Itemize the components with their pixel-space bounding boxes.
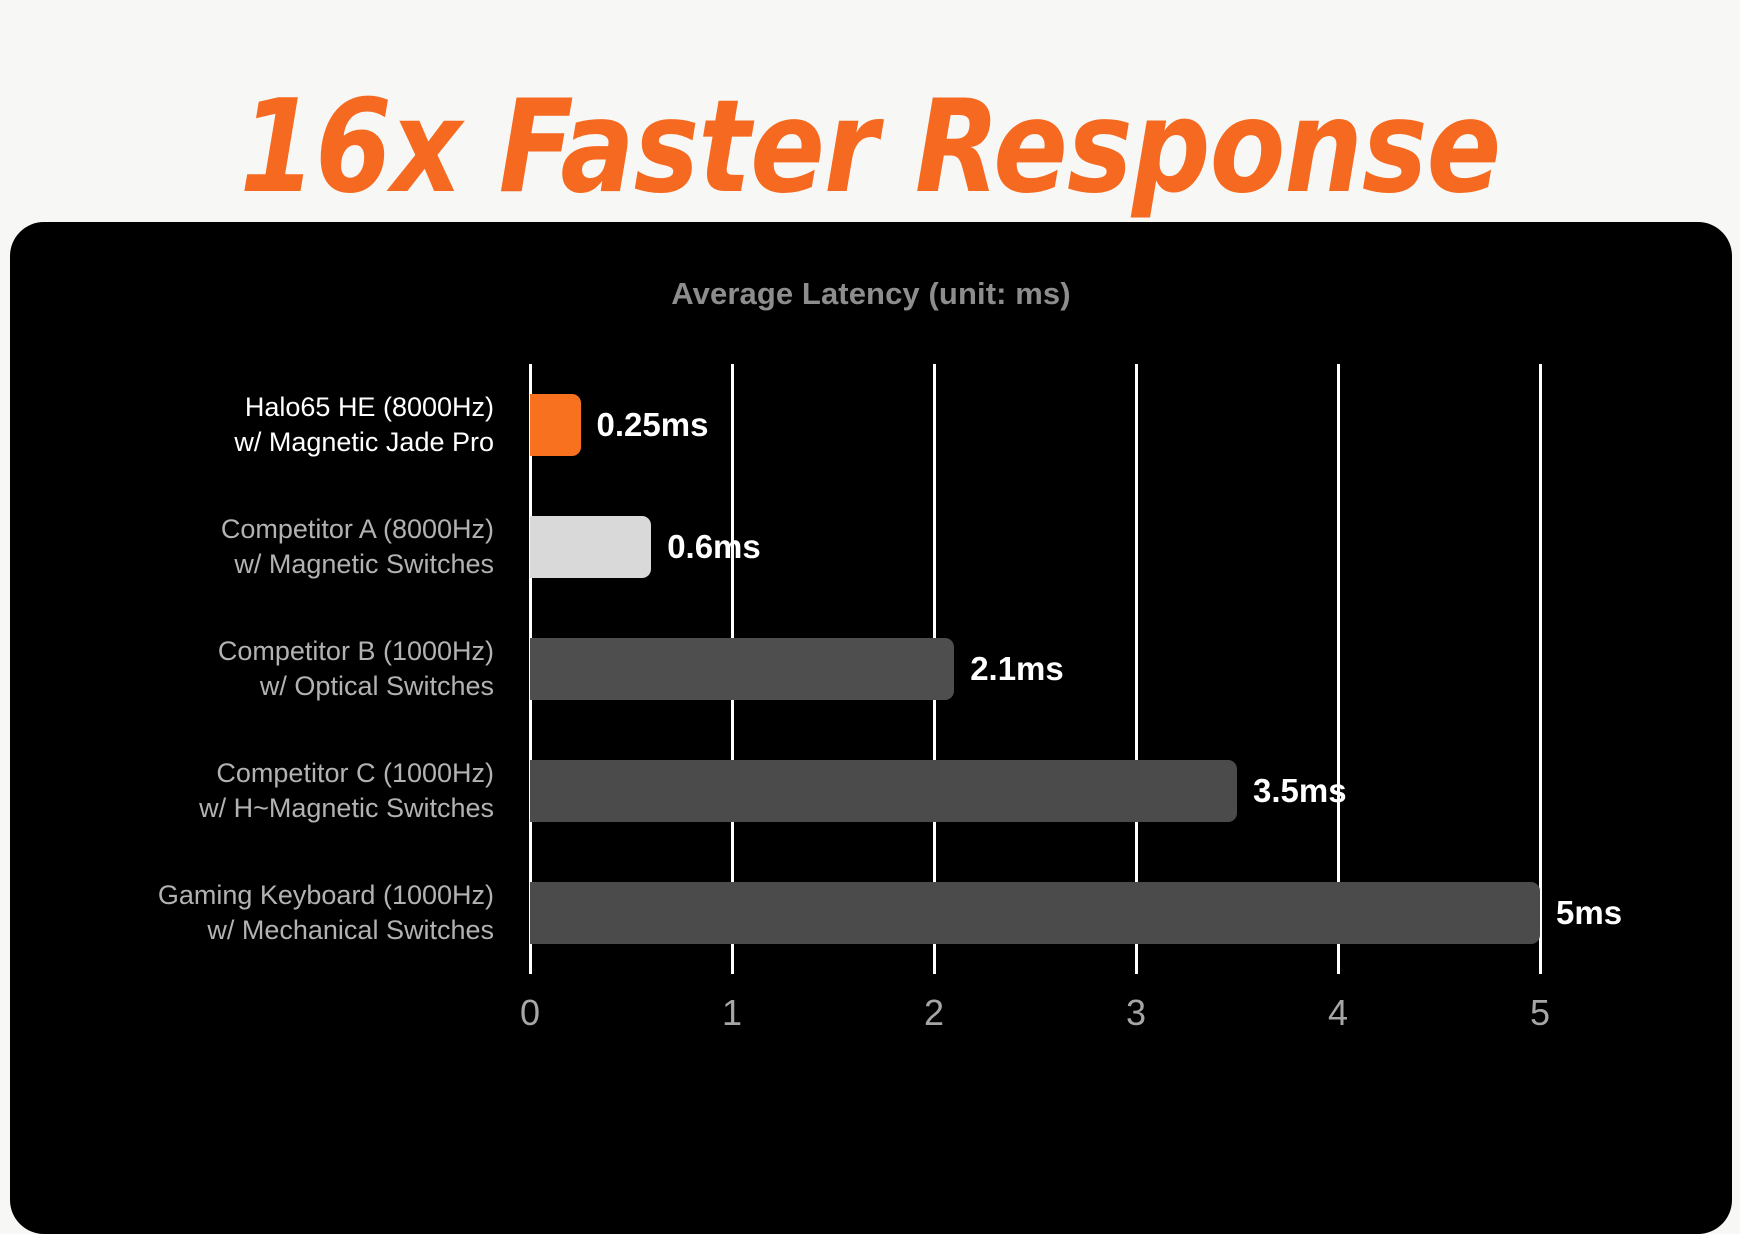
bar-row[interactable]: 0.6ms — [530, 486, 1540, 608]
bar[interactable] — [530, 638, 954, 700]
x-tick-3: 3 — [1126, 992, 1146, 1034]
x-axis: 012345 — [530, 974, 1540, 1044]
bar-row[interactable]: 5ms — [530, 852, 1540, 974]
category-label: Competitor B (1000Hz)w/ Optical Switches — [32, 608, 494, 730]
bar-rows: 0.25ms0.6ms2.1ms3.5ms5ms — [530, 364, 1540, 974]
category-label: Halo65 HE (8000Hz)w/ Magnetic Jade Pro — [32, 364, 494, 486]
bar-row[interactable]: 3.5ms — [530, 730, 1540, 852]
category-label-line2: w/ Magnetic Switches — [234, 547, 494, 582]
chart-title: Average Latency (unit: ms) — [10, 276, 1732, 312]
category-label-line1: Competitor A (8000Hz) — [221, 512, 494, 547]
bar-row[interactable]: 2.1ms — [530, 608, 1540, 730]
bar[interactable] — [530, 882, 1540, 944]
category-label-line2: w/ Mechanical Switches — [207, 913, 494, 948]
bar-row[interactable]: 0.25ms — [530, 364, 1540, 486]
page-title: 16x Faster Response — [122, 84, 1618, 212]
category-label: Competitor C (1000Hz)w/ H~Magnetic Switc… — [32, 730, 494, 852]
infographic-root: 16x Faster Response Average Latency (uni… — [0, 0, 1740, 1234]
category-label-line1: Competitor C (1000Hz) — [216, 756, 494, 791]
category-label-line1: Competitor B (1000Hz) — [218, 634, 494, 669]
x-tick-0: 0 — [520, 992, 540, 1034]
x-tick-1: 1 — [722, 992, 742, 1034]
bar-value-label: 2.1ms — [970, 638, 1064, 700]
bar-value-label: 0.6ms — [667, 516, 761, 578]
category-label-line1: Halo65 HE (8000Hz) — [245, 390, 494, 425]
plot-area: 0.25ms0.6ms2.1ms3.5ms5ms — [530, 364, 1540, 974]
category-label-line2: w/ Optical Switches — [260, 669, 494, 704]
x-tick-2: 2 — [924, 992, 944, 1034]
category-label-line2: w/ Magnetic Jade Pro — [234, 425, 494, 460]
x-tick-5: 5 — [1530, 992, 1550, 1034]
category-label-line2: w/ H~Magnetic Switches — [199, 791, 494, 826]
category-label: Gaming Keyboard (1000Hz)w/ Mechanical Sw… — [32, 852, 494, 974]
bar[interactable] — [530, 394, 581, 456]
category-label: Competitor A (8000Hz)w/ Magnetic Switche… — [32, 486, 494, 608]
bar[interactable] — [530, 760, 1237, 822]
bar[interactable] — [530, 516, 651, 578]
category-label-column: Halo65 HE (8000Hz)w/ Magnetic Jade ProCo… — [50, 364, 512, 974]
bar-value-label: 5ms — [1556, 882, 1622, 944]
chart-card: Average Latency (unit: ms) Halo65 HE (80… — [10, 222, 1732, 1234]
category-label-line1: Gaming Keyboard (1000Hz) — [158, 878, 494, 913]
bar-value-label: 0.25ms — [597, 394, 709, 456]
x-tick-4: 4 — [1328, 992, 1348, 1034]
bar-value-label: 3.5ms — [1253, 760, 1347, 822]
